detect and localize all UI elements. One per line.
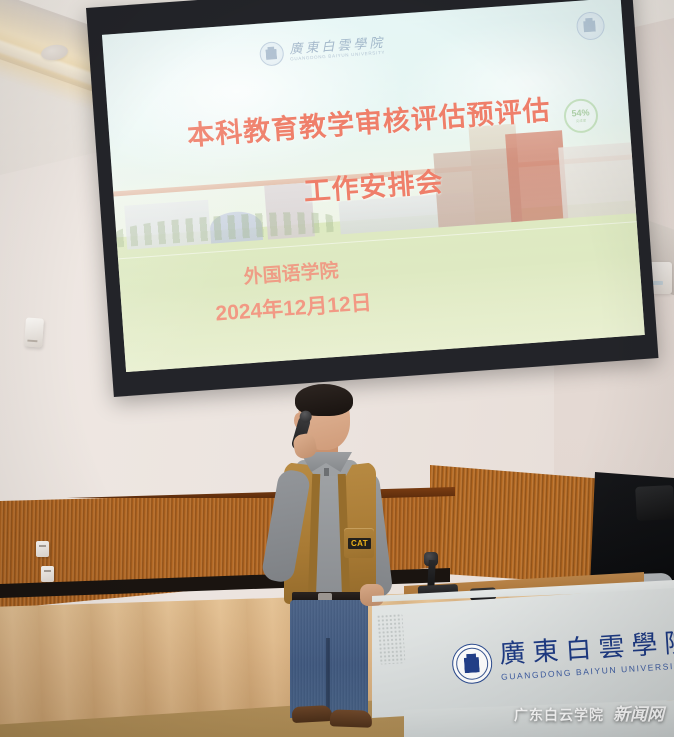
- trouser-leg-split: [326, 638, 330, 716]
- wall-outlet-icon[interactable]: [41, 566, 54, 582]
- right-shoe: [330, 709, 373, 727]
- wall-sensor-icon: [24, 317, 44, 347]
- slide-surface: 廣東白雲學院 GUANGDONG BAIYUN UNIVERSITY 本科教育教…: [102, 0, 645, 372]
- university-seal-icon: [259, 41, 285, 67]
- university-seal-icon: [451, 642, 493, 684]
- watermark-org: 广东白云学院: [514, 705, 604, 725]
- slide-progress-sub: 完成度: [576, 118, 587, 124]
- wall-outlet-icon[interactable]: [36, 541, 49, 557]
- cat-brand-logo: CAT: [348, 538, 371, 549]
- left-shoe: [292, 705, 333, 723]
- right-hand: [360, 584, 384, 606]
- watermark: 广东白云学院 新闻网: [514, 700, 664, 725]
- podium-speaker-grille-icon: [376, 613, 405, 664]
- watermark-site: 新闻网: [613, 700, 664, 725]
- lecture-hall-photo: 廣東白雲學院 GUANGDONG BAIYUN UNIVERSITY 本科教育教…: [0, 0, 674, 737]
- projection-screen: 廣東白雲學院 GUANGDONG BAIYUN UNIVERSITY 本科教育教…: [86, 0, 658, 397]
- equipment-box: [635, 485, 674, 521]
